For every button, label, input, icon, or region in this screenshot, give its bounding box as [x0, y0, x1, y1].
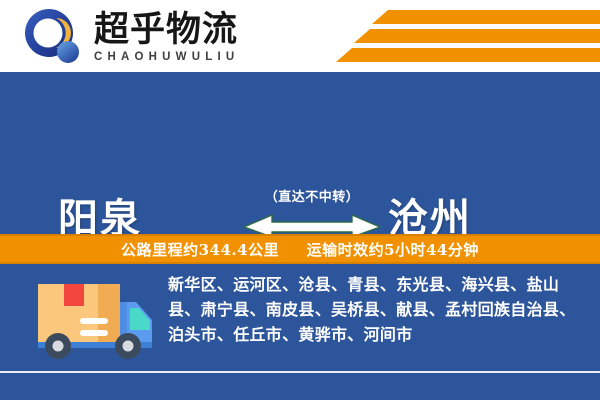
- brand-name-en: CHAOHUWULIU: [94, 50, 239, 64]
- brand-name-cn: 超乎物流: [94, 11, 239, 49]
- info-bar: 公路里程约344.4公里 运输时效约5小时44分钟: [0, 234, 600, 264]
- duration-text: 运输时效约5小时44分钟: [307, 241, 479, 259]
- info-bar-text: 公路里程约344.4公里 运输时效约5小时44分钟: [121, 239, 479, 260]
- delivery-truck-icon: [32, 276, 160, 362]
- footer-bar: [0, 373, 600, 400]
- logistics-banner: 超乎物流 CHAOHUWULIU 阳泉 （直达不中转） 【往返运输】 沧州 公路…: [0, 0, 600, 400]
- coverage-section: 新华区、运河区、沧县、青县、东光县、海兴县、盐山县、肃宁县、南皮县、吴桥县、献县…: [0, 266, 600, 372]
- decorative-stripes: [338, 8, 600, 66]
- brand-logo: 超乎物流 CHAOHUWULIU: [22, 8, 239, 66]
- direct-service-note: （直达不中转）: [242, 190, 382, 206]
- brand-text: 超乎物流 CHAOHUWULIU: [94, 11, 239, 64]
- header-bar: 超乎物流 CHAOHUWULIU: [0, 0, 600, 72]
- distance-text: 公路里程约344.4公里: [121, 241, 279, 259]
- stripe-3: [336, 48, 600, 62]
- circle-crescent-logo-icon: [22, 8, 84, 66]
- stripe-1: [372, 10, 600, 24]
- coverage-areas-text: 新华区、运河区、沧县、青县、东光县、海兴县、盐山县、肃宁县、南皮县、吴桥县、献县…: [168, 272, 580, 347]
- stripe-2: [354, 29, 600, 43]
- route-section: 阳泉 （直达不中转） 【往返运输】 沧州: [0, 72, 600, 234]
